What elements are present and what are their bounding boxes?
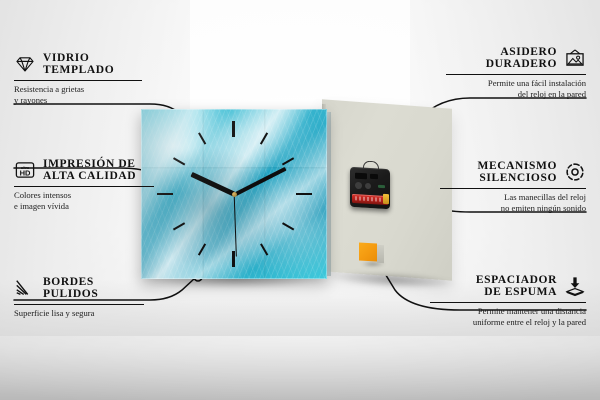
feature-desc: Las manecillas del reloj no emiten ningú… <box>440 192 586 213</box>
polished-edges-icon <box>14 277 36 299</box>
movement-dial-a <box>355 182 362 189</box>
foam-spacer-icon <box>564 275 586 297</box>
clock-tick-3 <box>296 193 312 196</box>
clock-center-hub <box>232 192 237 197</box>
feature-impresion-alta-calidad: ultra HD IMPRESIÓN DE ALTA CALIDAD Color… <box>14 158 164 211</box>
battery-positive-tip <box>383 194 389 204</box>
feature-rule <box>14 304 144 305</box>
movement-dial-b <box>365 183 371 189</box>
feature-title: MECANISMO SILENCIOSO <box>477 160 557 185</box>
svg-text:HD: HD <box>20 169 31 178</box>
feature-head: ASIDERO DURADERO <box>446 46 586 71</box>
feature-asidero-duradero: ASIDERO DURADERO Permite una fácil insta… <box>446 46 586 99</box>
feature-mecanismo-silencioso: MECANISMO SILENCIOSO Las manecillas del … <box>440 160 586 213</box>
movement-slot-a <box>355 173 367 180</box>
feature-desc: Superficie lisa y segura <box>14 308 154 318</box>
feature-title: VIDRIO TEMPLADO <box>43 52 114 77</box>
clock-tick-12 <box>232 121 235 137</box>
feature-rule <box>440 188 586 189</box>
feature-head: ultra HD IMPRESIÓN DE ALTA CALIDAD <box>14 158 164 183</box>
feature-title: BORDES PULIDOS <box>43 276 98 301</box>
feature-title: ESPACIADOR DE ESPUMA <box>476 274 557 299</box>
foam-spacer <box>359 242 377 261</box>
feature-espaciador-de-espuma: ESPACIADOR DE ESPUMA Permite mantener un… <box>430 274 586 327</box>
feature-rule <box>430 302 586 303</box>
wall-hanger-icon <box>564 47 586 69</box>
feature-rule <box>446 74 586 75</box>
feature-head: VIDRIO TEMPLADO <box>14 52 152 77</box>
feature-title: ASIDERO DURADERO <box>486 46 557 71</box>
diamond-icon <box>14 53 36 75</box>
clock-tick-6 <box>232 251 235 267</box>
infographic-canvas: VIDRIO TEMPLADO Resistencia a grietas y … <box>0 0 600 400</box>
feature-desc: Permite mantener una distancia uniforme … <box>430 306 586 327</box>
feature-head: ESPACIADOR DE ESPUMA <box>430 274 586 299</box>
feature-desc: Resistencia a grietas y rayones <box>14 84 152 105</box>
feature-rule <box>14 186 154 187</box>
foam-spacer-side <box>377 245 384 263</box>
feature-vidrio-templado: VIDRIO TEMPLADO Resistencia a grietas y … <box>14 52 152 105</box>
glass-wall-clock <box>141 109 327 279</box>
feature-desc: Colores intensos e imagen vívida <box>14 190 164 211</box>
feature-head: MECANISMO SILENCIOSO <box>440 160 586 185</box>
gear-icon <box>564 161 586 183</box>
movement-slot-b <box>370 174 378 179</box>
clock-glass-edge <box>327 112 331 276</box>
feature-desc: Permite una fácil instalación del reloj … <box>446 78 586 99</box>
feature-bordes-pulidos: BORDES PULIDOS Superficie lisa y segura <box>14 276 154 319</box>
ultra-hd-icon: ultra HD <box>14 159 36 181</box>
feature-head: BORDES PULIDOS <box>14 276 154 301</box>
feature-title: IMPRESIÓN DE ALTA CALIDAD <box>43 158 136 183</box>
movement-label <box>378 185 385 188</box>
feature-rule <box>14 80 142 81</box>
